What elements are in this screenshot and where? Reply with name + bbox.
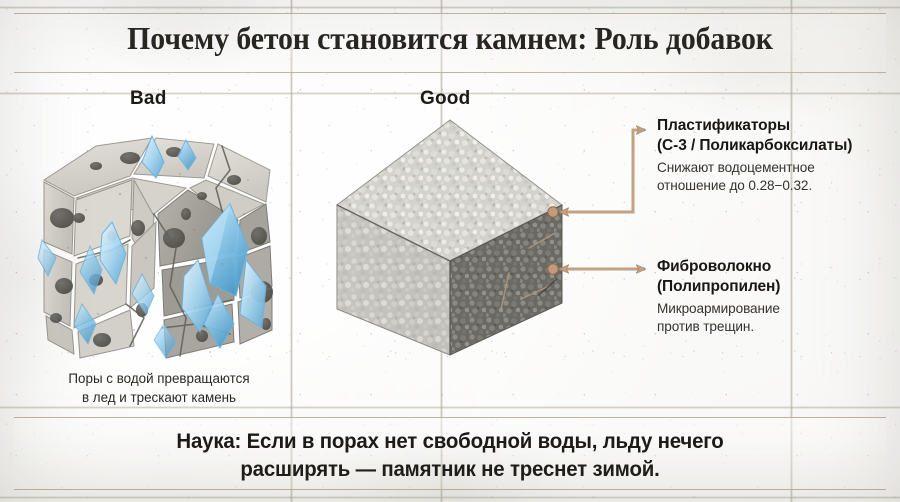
annotation-1-title-line1: Пластификаторы bbox=[657, 116, 893, 136]
infographic-canvas: Почему бетон становится камнем: Роль доб… bbox=[0, 0, 900, 502]
annotation-1-body-line2: отношение до 0.28−0.32. bbox=[657, 177, 893, 195]
annotation-2-title-line1: Фиброволокно bbox=[657, 257, 893, 277]
annotation-2-body-line1: Микроармирование bbox=[657, 300, 893, 318]
bad-concrete-cube-illustration bbox=[34, 118, 284, 366]
bad-caption-line2: в лед и трескают камень bbox=[20, 388, 298, 407]
tile-seam-horizontal-1 bbox=[0, 6, 900, 9]
footer-line2: расширять — памятник не треснет зимой. bbox=[61, 456, 840, 484]
footer-lead: Наука: bbox=[176, 429, 241, 453]
bad-caption-line1: Поры с водой превращаются bbox=[20, 369, 298, 388]
callout-arrow-plasticizers bbox=[560, 130, 645, 212]
page-title: Почему бетон становится камнем: Роль доб… bbox=[32, 20, 869, 57]
label-bad: Bad bbox=[130, 88, 167, 110]
annotation-fiber: Фиброволокно (Полипропилен) Микроармиров… bbox=[657, 257, 893, 337]
annotation-2-title-line2: (Полипропилен) bbox=[657, 277, 893, 297]
good-concrete-cube-illustration bbox=[333, 113, 565, 361]
annotation-2-body-line2: против трещин. bbox=[657, 318, 893, 336]
annotation-plasticizers: Пластификаторы (С-3 / Поликарбоксилаты) … bbox=[657, 116, 893, 196]
footer-text: Наука: Если в порах нет свободной воды, … bbox=[61, 428, 840, 484]
tile-seam-horizontal-4 bbox=[0, 496, 900, 499]
footer-line1: Наука: Если в порах нет свободной воды, … bbox=[61, 428, 840, 456]
footer-line1-rest: Если в порах нет свободной воды, льду не… bbox=[241, 429, 723, 453]
label-good: Good bbox=[420, 88, 470, 110]
annotation-1-title-line2: (С-3 / Поликарбоксилаты) bbox=[657, 136, 893, 156]
bad-cube-caption: Поры с водой превращаются в лед и треска… bbox=[20, 369, 298, 407]
annotation-1-body-line1: Снижают водоцементное bbox=[657, 159, 893, 177]
